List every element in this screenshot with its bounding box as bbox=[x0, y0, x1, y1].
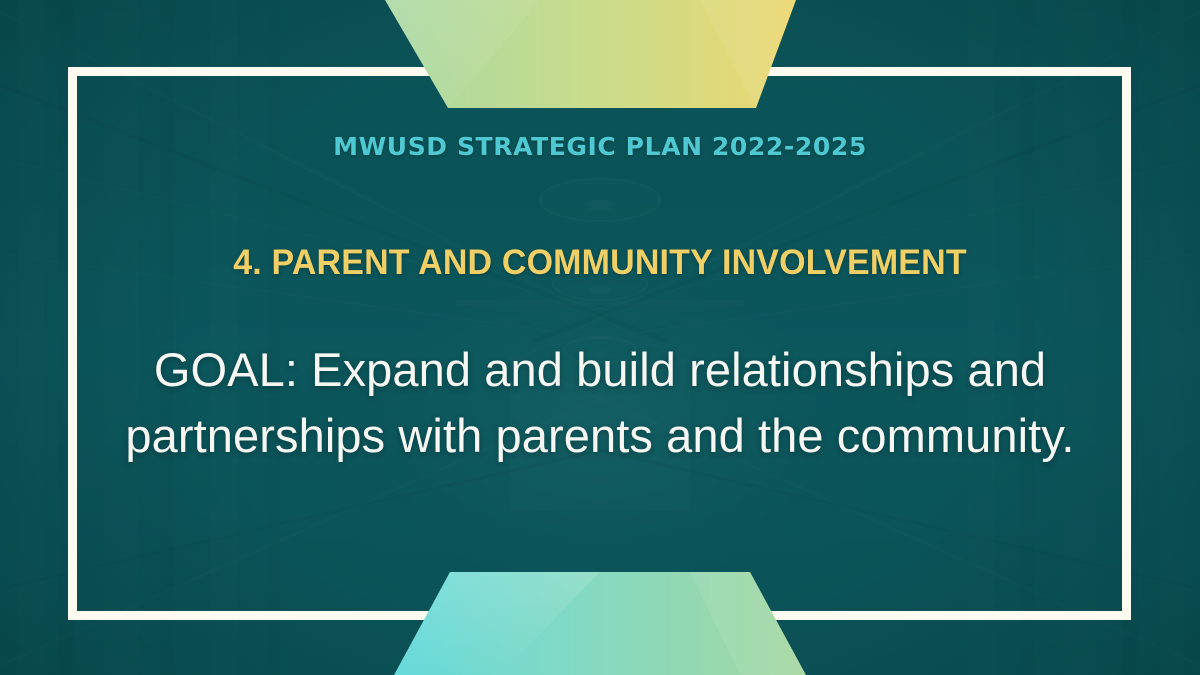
slide-eyebrow-title: MWUSD STRATEGIC PLAN 2022-2025 bbox=[0, 132, 1200, 161]
presentation-slide: MWUSD STRATEGIC PLAN 2022-2025 4. PARENT… bbox=[0, 0, 1200, 675]
slide-goal-block: GOAL: Expand and build relationships and… bbox=[120, 337, 1080, 469]
slide-heading: 4. PARENT AND COMMUNITY INVOLVEMENT bbox=[18, 243, 1182, 283]
goal-line-2: partnerships with parents and the commun… bbox=[120, 403, 1080, 469]
goal-line-1: GOAL: Expand and build relationships and bbox=[120, 337, 1080, 403]
